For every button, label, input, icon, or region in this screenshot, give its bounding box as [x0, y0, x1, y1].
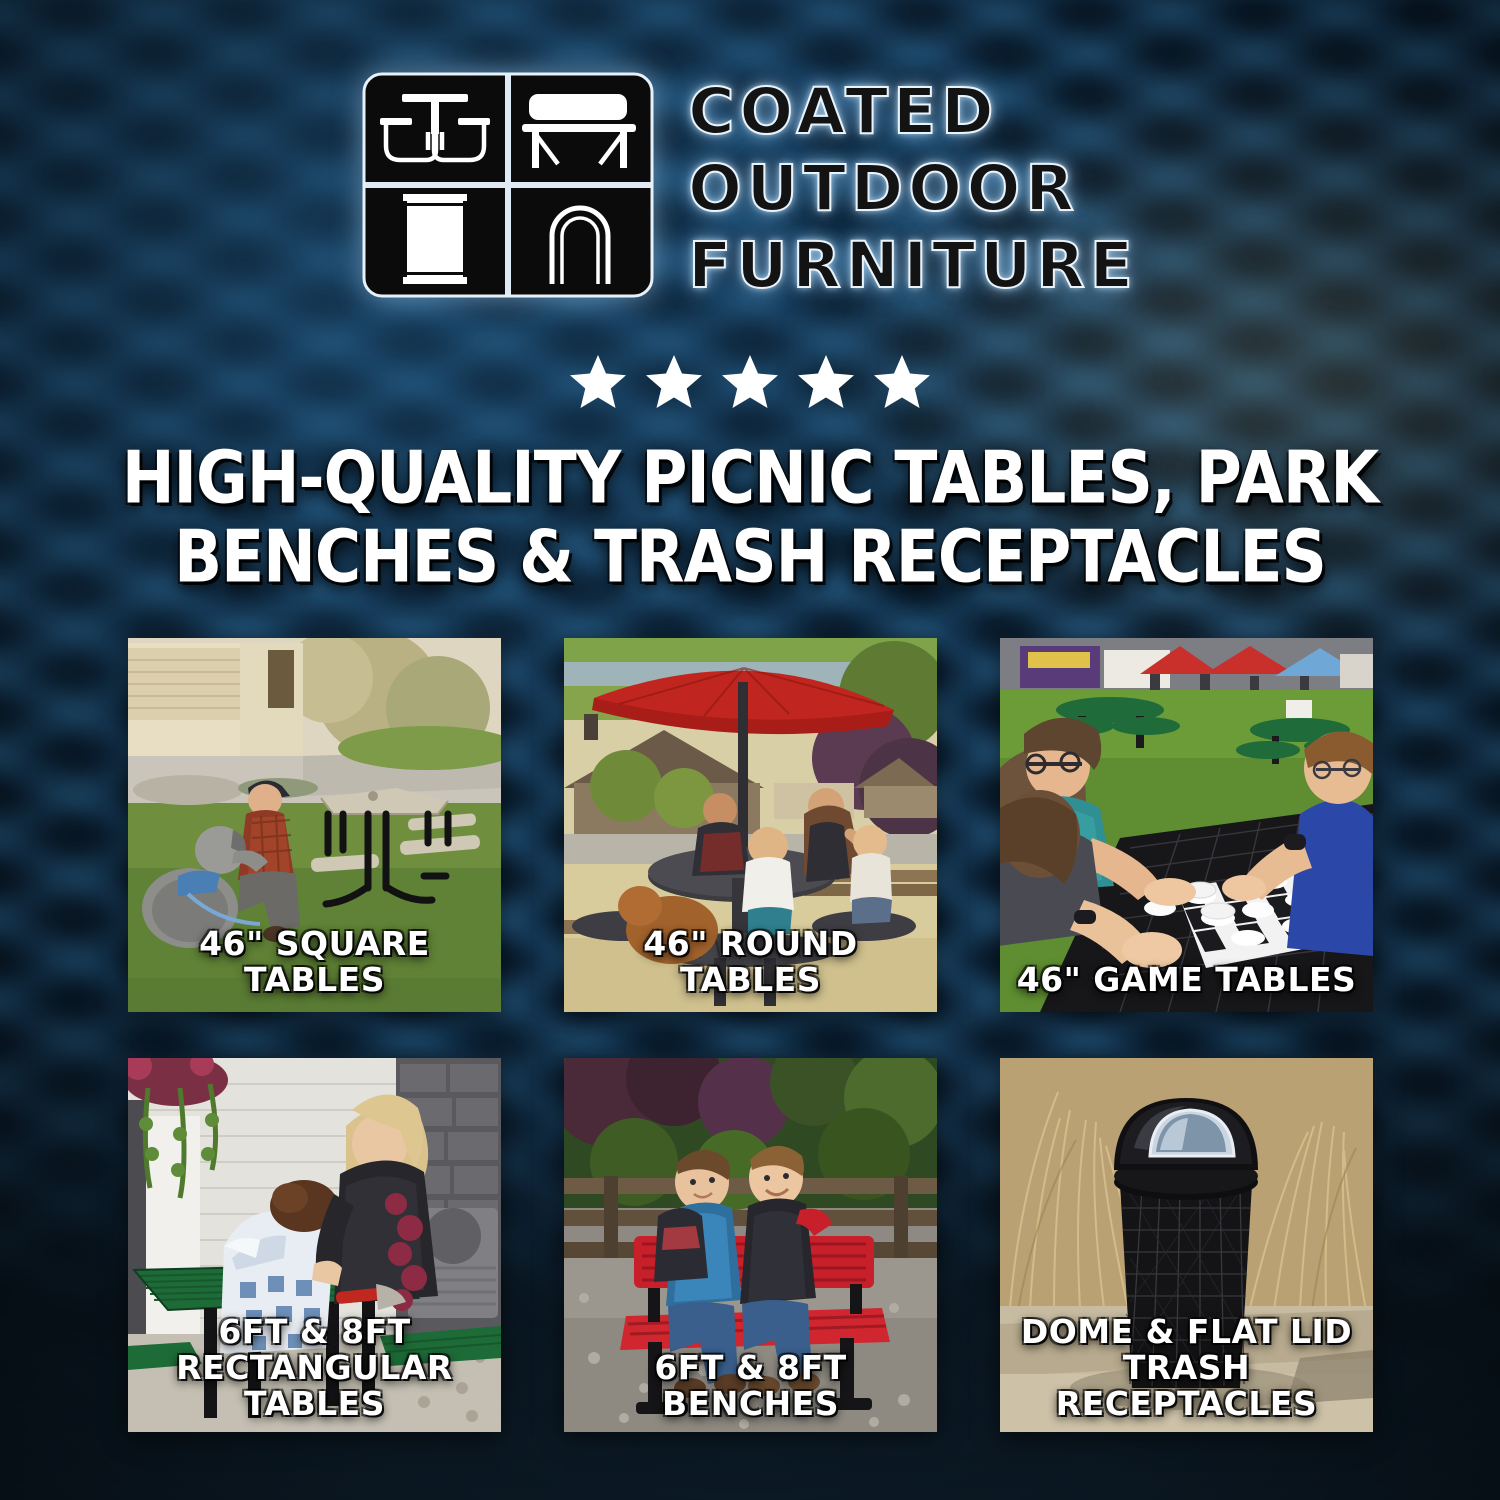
product-tile-game-tables[interactable]: 46" GAME TABLES: [1000, 638, 1373, 1012]
product-tile-benches[interactable]: 6FT & 8FT BENCHES: [564, 1058, 937, 1432]
wordmark-line-2: OUTDOOR: [688, 151, 1138, 226]
star-icon: [719, 352, 781, 412]
headline-line-2: BENCHES & TRASH RECEPTACLES: [60, 519, 1440, 595]
tile-caption-line-1: 6FT & 8FT: [136, 1314, 493, 1350]
tile-caption-line-2: RECTANGULAR TABLES: [136, 1350, 493, 1422]
wordmark-line-3: FURNITURE: [688, 228, 1138, 303]
brand-wordmark: COATED OUTDOOR FURNITURE: [688, 72, 1138, 303]
star-icon: [795, 352, 857, 412]
product-grid: 46" SQUARE TABLES: [128, 638, 1373, 1432]
tile-caption-line-1: DOME & FLAT LID: [1008, 1314, 1365, 1350]
tile-caption-trash-receptacles: DOME & FLAT LID TRASH RECEPTACLES: [1000, 1314, 1373, 1422]
trash-receptacle-icon: [403, 194, 467, 284]
product-tile-rectangular-tables[interactable]: 6FT & 8FT RECTANGULAR TABLES: [128, 1058, 501, 1432]
product-photo-game-tables: [1000, 638, 1373, 1012]
star-icon: [871, 352, 933, 412]
star-rating: [0, 352, 1500, 412]
page-title: HIGH-QUALITY PICNIC TABLES, PARK BENCHES…: [60, 440, 1440, 586]
product-tile-round-tables[interactable]: 46" ROUND TABLES: [564, 638, 937, 1012]
tile-caption-game-tables: 46" GAME TABLES: [1000, 962, 1373, 998]
tile-caption-line-2: BENCHES: [572, 1386, 929, 1422]
tile-caption-square-tables: 46" SQUARE TABLES: [128, 926, 501, 998]
headline-line-1: HIGH-QUALITY PICNIC TABLES, PARK: [60, 440, 1440, 516]
tile-caption-benches: 6FT & 8FT BENCHES: [564, 1350, 937, 1422]
brand-header: COATED OUTDOOR FURNITURE: [0, 72, 1500, 303]
tile-caption-line-2: TRASH RECEPTACLES: [1008, 1350, 1365, 1422]
star-icon: [643, 352, 705, 412]
wordmark-line-1: COATED: [688, 74, 1138, 149]
tile-caption-rectangular-tables: 6FT & 8FT RECTANGULAR TABLES: [128, 1314, 501, 1422]
star-icon: [567, 352, 629, 412]
tile-caption-line-1: 6FT & 8FT: [572, 1350, 929, 1386]
product-tile-trash-receptacles[interactable]: DOME & FLAT LID TRASH RECEPTACLES: [1000, 1058, 1373, 1432]
four-quadrant-furniture-logo: [362, 72, 654, 298]
product-tile-square-tables[interactable]: 46" SQUARE TABLES: [128, 638, 501, 1012]
tile-caption-round-tables: 46" ROUND TABLES: [564, 926, 937, 998]
